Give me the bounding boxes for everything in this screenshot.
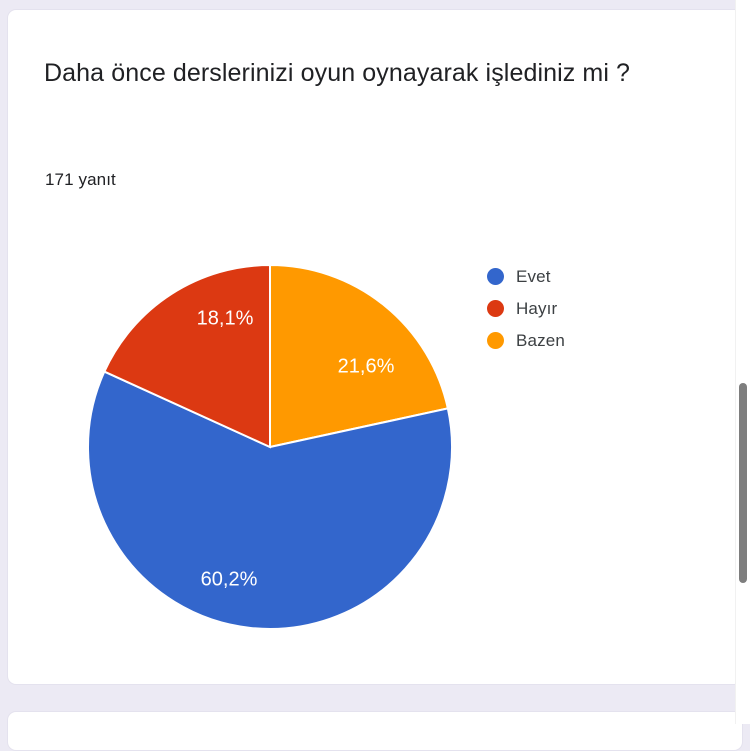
scrollbar-thumb[interactable] xyxy=(739,383,747,583)
chart-legend: Evet Hayır Bazen xyxy=(487,265,565,352)
pie-slice-label-evet: 60,2% xyxy=(201,568,258,590)
pie-slices xyxy=(88,265,452,629)
legend-swatch-evet-icon xyxy=(487,268,504,285)
legend-label-hayir: Hayır xyxy=(516,297,557,320)
next-question-card xyxy=(7,711,743,751)
page-title: Daha önce derslerinizi oyun oynayarak iş… xyxy=(44,52,644,95)
legend-label-bazen: Bazen xyxy=(516,329,565,352)
legend-label-evet: Evet xyxy=(516,265,551,288)
legend-swatch-bazen-icon xyxy=(487,332,504,349)
response-count-label: 171 yanıt xyxy=(45,168,116,192)
legend-item-hayir[interactable]: Hayır xyxy=(487,297,565,320)
legend-item-bazen[interactable]: Bazen xyxy=(487,329,565,352)
pie-slice-label-hayir: 18,1% xyxy=(197,307,254,329)
pie-chart-svg: 21,6% 60,2% 18,1% xyxy=(0,215,734,675)
legend-swatch-hayir-icon xyxy=(487,300,504,317)
page-scrollbar[interactable] xyxy=(735,0,750,724)
page-root: Daha önce derslerinizi oyun oynayarak iş… xyxy=(0,0,750,724)
pie-slice-label-bazen: 21,6% xyxy=(338,355,395,377)
legend-item-evet[interactable]: Evet xyxy=(487,265,565,288)
pie-chart: 21,6% 60,2% 18,1% xyxy=(0,215,734,675)
